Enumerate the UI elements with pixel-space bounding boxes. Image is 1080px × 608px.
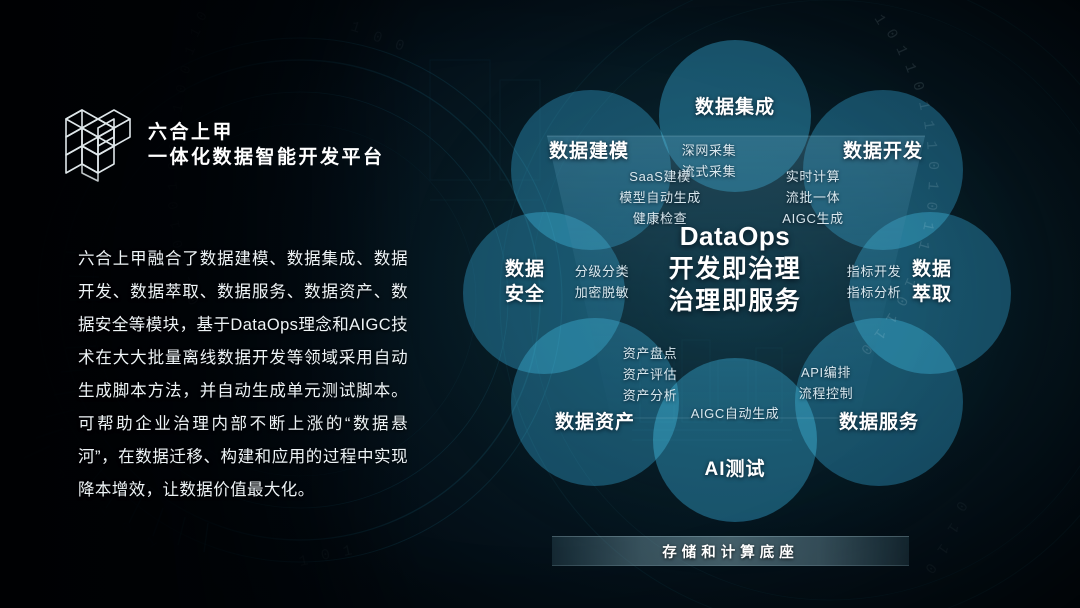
storage-compute-base-label: 存储和计算底座	[662, 541, 799, 562]
node-label-data-service: 数据服务	[827, 411, 931, 434]
node-label-data-security: 数据 安全	[493, 258, 557, 307]
node-label-ai-testing: AI测试	[685, 458, 785, 481]
center-line-1: 开发即治理	[610, 253, 860, 286]
center-line-2: 治理即服务	[610, 285, 860, 318]
intro-paragraph: 六合上甲融合了数据建模、数据集成、数据开发、数据萃取、数据服务、数据资产、数据安…	[78, 243, 408, 507]
brand-name: 六合上甲	[148, 123, 385, 142]
node-label-data-modeling: 数据建模	[537, 140, 641, 163]
isometric-brick-logo-icon	[60, 103, 132, 183]
brand-subtitle: 一体化数据智能开发平台	[148, 148, 385, 167]
slide-canvas: 0 1 1 0 0 1 0 0 0 1 0 1 0 1 1 0 1 0 1 1 …	[0, 0, 1080, 608]
node-label-data-assets: 数据资产	[543, 411, 647, 434]
storage-compute-base-bar: 存储和计算底座	[552, 536, 909, 566]
features-ai-testing: AIGC自动生成	[673, 403, 797, 424]
center-title-en: DataOps	[610, 220, 860, 253]
brand-header: 六合上甲 一体化数据智能开发平台	[60, 103, 385, 183]
center-statement: DataOps 开发即治理 治理即服务	[610, 220, 860, 318]
node-label-data-development: 数据开发	[831, 140, 935, 163]
features-data-assets: 资产盘点 资产评估 资产分析	[597, 343, 703, 406]
venn-diagram: 数据集成 数据建模 数据开发 数据 安全 数据 萃取 数据资产 数据服务 AI测…	[455, 18, 1015, 528]
node-label-data-integration: 数据集成	[685, 96, 785, 119]
features-data-service: API编排 流程控制	[773, 362, 879, 404]
